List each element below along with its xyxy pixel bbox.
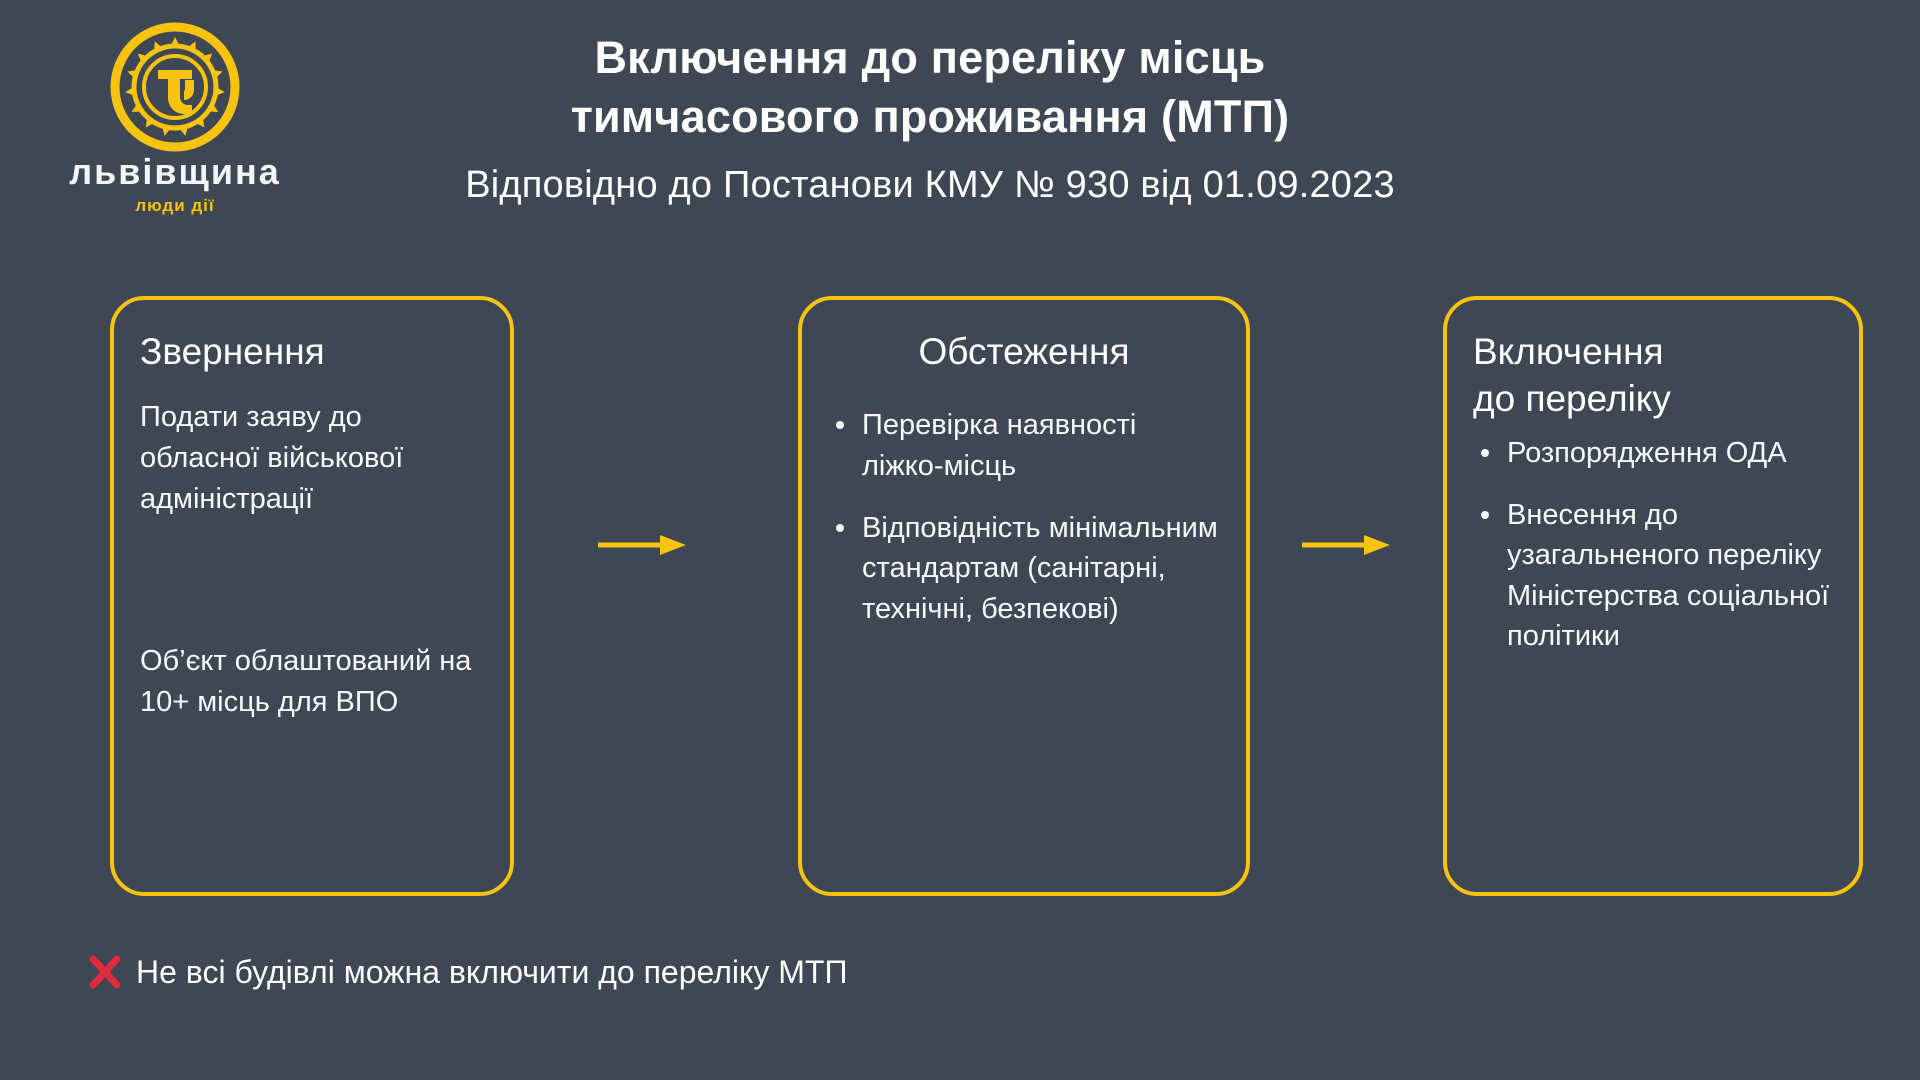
list-item: Перевірка наявності ліжко-місць <box>828 405 1220 486</box>
flow-step-1-paragraph-2: Об’єкт облаштований на 10+ місць для ВПО <box>140 641 484 722</box>
list-item: Внесення до узагальненого переліку Мініс… <box>1473 495 1833 656</box>
page-header: львівщина люди дії Включення до переліку… <box>0 0 1920 270</box>
warning-note-text: Не всі будівлі можна включити до перелік… <box>136 956 847 988</box>
list-item: Розпорядження ОДА <box>1473 433 1833 473</box>
page-title-line-2: тимчасового проживання (МТП) <box>300 87 1560 146</box>
brand-wordmark: львівщина <box>60 154 290 190</box>
bullet-dot-icon <box>1481 511 1489 519</box>
arrow-right-icon-1 <box>596 532 688 558</box>
flow-step-2-title: Обстеження <box>828 328 1220 375</box>
flow-step-3-title: Включення до переліку <box>1473 328 1833 423</box>
red-cross-icon <box>88 955 122 989</box>
flow-step-2-bullets: Перевірка наявності ліжко-місць Відповід… <box>828 405 1220 628</box>
list-item: Відповідність мінімальним стандартам (са… <box>828 508 1220 629</box>
flow-step-1-paragraph-1: Подати заяву до обласної військової адмі… <box>140 397 484 519</box>
bullet-dot-icon <box>1481 449 1489 457</box>
title-block: Включення до переліку місць тимчасового … <box>300 28 1560 210</box>
list-item-label: Відповідність мінімальним стандартам (са… <box>862 512 1218 625</box>
list-item-label: Розпорядження ОДА <box>1507 437 1787 469</box>
lviv-region-emblem-icon <box>110 22 240 152</box>
brand-logo: львівщина люди дії <box>60 22 290 214</box>
list-item-label: Перевірка наявності ліжко-місць <box>862 409 1136 481</box>
list-item-label: Внесення до узагальненого переліку Мініс… <box>1507 499 1829 652</box>
flow-step-1-title: Звернення <box>140 328 484 375</box>
flow-step-2-card: Обстеження Перевірка наявності ліжко-міс… <box>798 296 1250 896</box>
brand-tagline: люди дії <box>60 197 290 214</box>
bullet-dot-icon <box>836 524 844 532</box>
process-flow: Звернення Подати заяву до обласної війсь… <box>0 296 1920 926</box>
warning-note: Не всі будівлі можна включити до перелік… <box>88 955 847 989</box>
page-title-line-1: Включення до переліку місць <box>300 28 1560 87</box>
flow-step-1-card: Звернення Подати заяву до обласної війсь… <box>110 296 514 896</box>
page-subtitle: Відповідно до Постанови КМУ № 930 від 01… <box>300 161 1560 210</box>
arrow-right-icon-2 <box>1300 532 1392 558</box>
flow-step-3-bullets: Розпорядження ОДА Внесення до узагальнен… <box>1473 433 1833 656</box>
bullet-dot-icon <box>836 421 844 429</box>
flow-step-3-card: Включення до переліку Розпорядження ОДА … <box>1443 296 1863 896</box>
